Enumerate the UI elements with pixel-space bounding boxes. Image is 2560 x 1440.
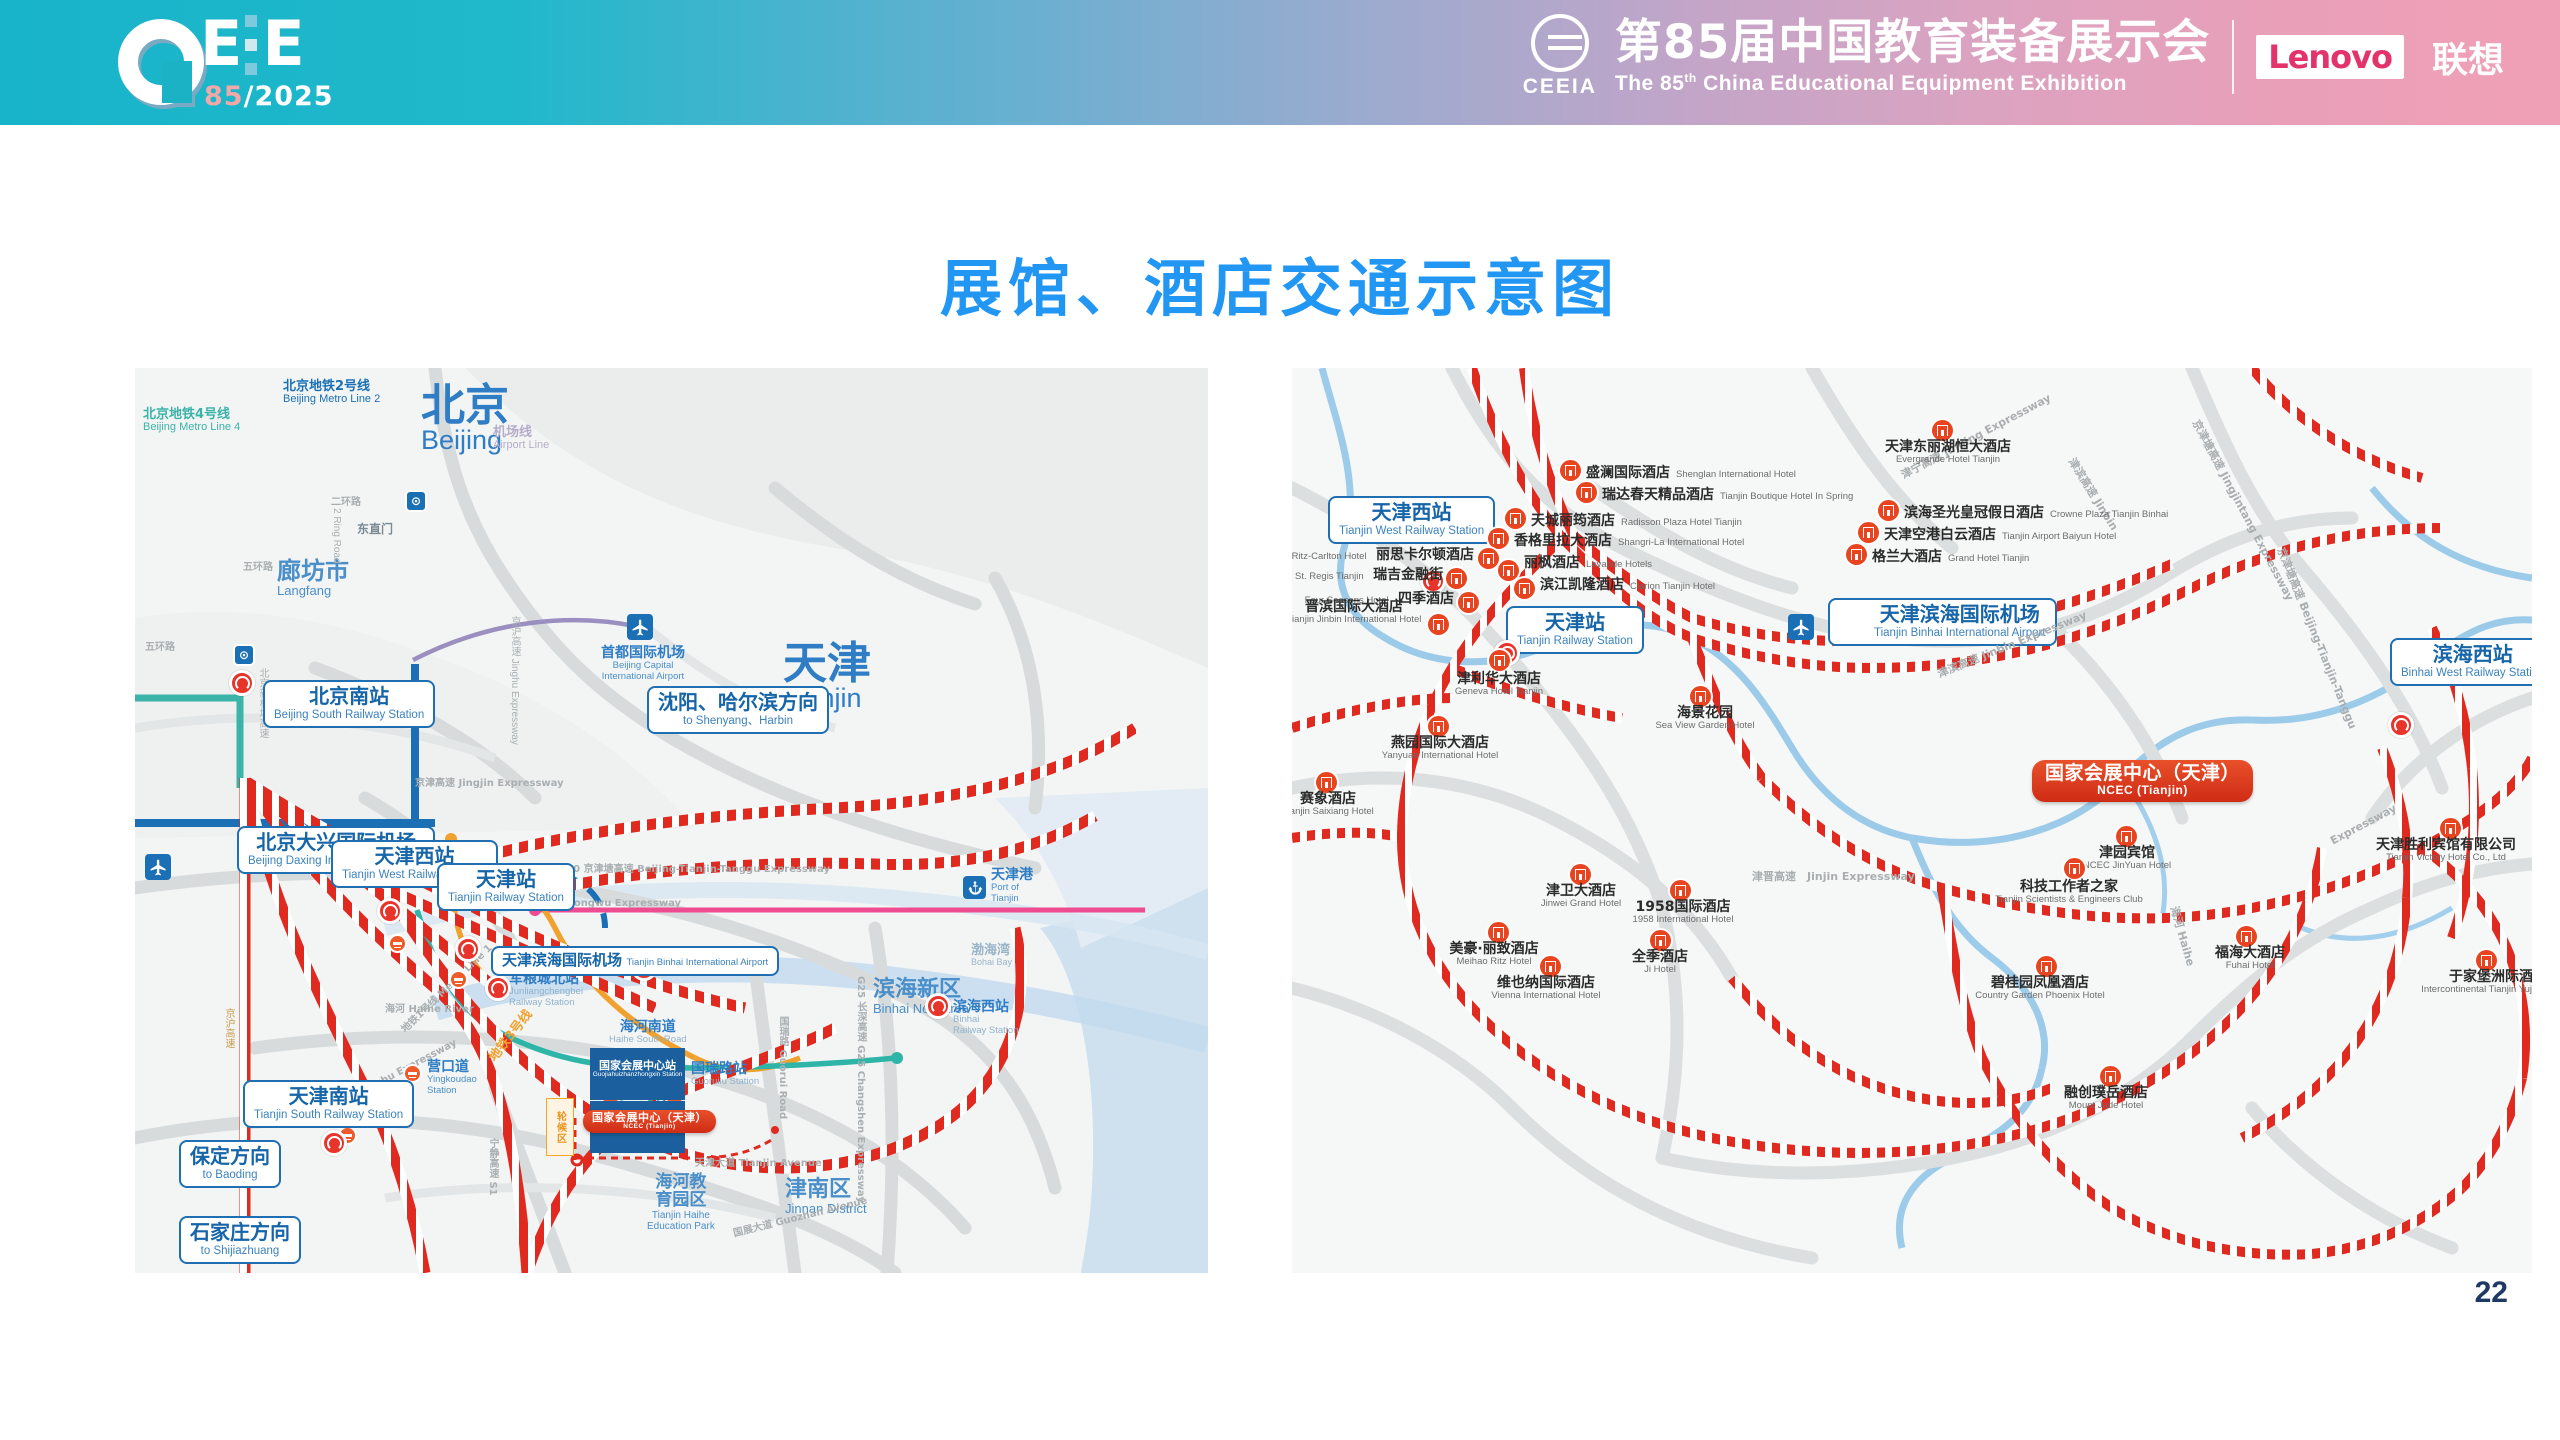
hotel-label-ji-hotel: 全季酒店 Ji Hotel (1596, 950, 1724, 975)
road-label-s40-beijing-tianjin-tanggu: S40 京津塘高速 Beijing-Tianjin-Tanggu Express… (559, 860, 830, 875)
header-titles: 第85届中国教育装备展示会 The 85th China Educational… (1615, 17, 2210, 96)
ceeia-logo: CEEIA (1523, 14, 1597, 99)
hotel-pin-geneva[interactable] (1489, 650, 1510, 671)
station-marker-junliangchengbei[interactable] (485, 975, 511, 1001)
metro-label-beijing-line-4: 北京地铁4号线Beijing Metro Line 4 (143, 408, 240, 433)
hotel-pin-shenglan[interactable] (1560, 460, 1581, 481)
hotel-pin-radisson[interactable] (1505, 508, 1526, 529)
hotel-pin-fuhai[interactable] (2236, 926, 2257, 947)
metro-label-beijing-line-2: 北京地铁2号线Beijing Metro Line 2 (283, 380, 380, 405)
hotel-pin-jinbin-intl[interactable] (1428, 614, 1449, 635)
region-label-langfang: 廊坊市 Langfang (277, 558, 349, 599)
station-marker-metro-interchange[interactable]: ⊙ (233, 644, 255, 666)
callout-tj-station-right[interactable]: 天津站 Tianjin Railway Station (1506, 606, 1644, 654)
hotel-pin-1958-intl[interactable] (1670, 880, 1691, 901)
hotel-label-radisson: 天城丽筠酒店Radisson Plaza Hotel Tianjin (1531, 512, 1742, 529)
map-tianjin-hotels[interactable]: 天津西站 Tianjin West Railway Station 天津西站 T… (1292, 368, 2532, 1273)
hotel-pin-saixiang[interactable] (1316, 772, 1337, 793)
station-marker-right-binhai-west[interactable] (2388, 712, 2414, 738)
hotel-pin-clarion[interactable] (1514, 578, 1535, 599)
callout-to-baoding[interactable]: 保定方向 to Baoding (179, 1140, 281, 1188)
station-marker-beijing-south[interactable] (229, 670, 255, 696)
callout-to-shenyang-harbin[interactable]: 沈阳、哈尔滨方向 to Shenyang、Harbin (647, 686, 829, 734)
place-label-junliangchengbei: 军粮城北站 JunliangchengbeiRailway Station (509, 972, 583, 1008)
road-label-guorui-road: 国瑞路 Guorui Road (775, 1016, 790, 1119)
hotel-pin-yujiapu-intercontinental[interactable] (2476, 950, 2497, 971)
place-label-binhai-west-station: 滨海西站 BinhaiRailway Station (953, 1000, 1018, 1036)
callout-beijing-south-station[interactable]: 北京南站 Beijing South Railway Station (263, 680, 435, 728)
road-label-ring-road-en: 2 Ring Road (331, 508, 342, 564)
hotel-pin-meihao-ritz[interactable] (1488, 922, 1509, 943)
hotel-label-airport-baiyun: 天津空港白云酒店Tianjin Airport Baiyun Hotel (1884, 526, 2116, 543)
map-beijing-tianjin-regional[interactable]: 北京 Beijing 天津 Tianjin 廊坊市 Langfang 滨海新区 … (135, 368, 1208, 1273)
header-right-group: CEEIA 第85届中国教育装备展示会 The 85th China Educa… (1523, 14, 2504, 99)
logo-letters: E E 85/2025 (200, 13, 334, 112)
hotel-label-country-garden-phoenix: 碧桂园凤凰酒店 Country Garden Phoenix Hotel (1942, 976, 2138, 1001)
callout-binhai-west-station-right[interactable]: 滨海西站 Binhai West Railway Station (2390, 638, 2532, 686)
hotel-pin-yanyuan[interactable] (1428, 716, 1449, 737)
hotel-pin-lavande[interactable] (1498, 560, 1519, 581)
logo-year-2025: /2025 (244, 81, 334, 112)
hotel-pin-ruida-spring[interactable] (1576, 482, 1597, 503)
lenovo-logo: Lenovo (2256, 35, 2404, 79)
logo-year: 85/2025 (204, 81, 334, 112)
header-divider (2232, 20, 2234, 94)
road-label-2-ring: 二环路 (331, 493, 361, 508)
airport-marker-beijing-daxing[interactable] (145, 854, 171, 880)
ceee-logo: E E 85/2025 (118, 12, 334, 112)
hotel-label-scientists-club: 科技工作者之家 Tianjin Scientists & Engineers C… (1958, 880, 2180, 905)
ceeia-ring-icon (1531, 14, 1589, 72)
metro-label-airport-line: 机场线Airport Line (493, 426, 549, 451)
road-label-5th-ring-2: 五环路 (145, 638, 175, 653)
hotel-label-crowne-plaza: 滨海圣光皇冠假日酒店Crowne Plaza Tianjin Binhai (1904, 504, 2168, 521)
road-label-5th-ring-1: 五环路 (243, 558, 273, 573)
hotel-label-clarion: 滨江凯隆酒店Clarion Tianjin Hotel (1540, 576, 1715, 593)
station-marker-tianjin-south[interactable] (321, 1130, 347, 1156)
hotel-label-grand-hotel-tianjin: 格兰大酒店Grand Hotel Tianjin (1872, 548, 2029, 565)
logo-year-85: 85 (204, 81, 244, 112)
airport-icon-binhai (1788, 614, 1814, 640)
hotel-label-yujiapu-intercontinental: 于家堡洲际酒店 Intercontinental Tianjin Yujiapu… (2378, 970, 2532, 995)
hotel-label-lavande: 丽枫酒店Lavande Hotels (1524, 554, 1652, 571)
place-label-haihe-south-road: 海河南道 Haihe South Road (609, 1020, 687, 1046)
lenovo-wordmark: Lenovo (2268, 38, 2392, 76)
hotel-label-jinbin-intl: 晋滨国际大酒店 Tianjin Jinbin International Hot… (1292, 600, 1424, 625)
road-label-jinjin-expressway: 津晋高速 Jinjin Expressway (1752, 868, 1915, 884)
place-label-port-of-tianjin: 天津港 Port ofTianjin (991, 868, 1033, 904)
hotel-pin-evergrande[interactable] (1932, 420, 1953, 441)
hotel-pin-victory[interactable] (2440, 818, 2461, 839)
hotel-label-shenglan: 盛澜国际酒店Shenglan International Hotel (1586, 464, 1796, 481)
logo-dot-column (245, 15, 257, 75)
road-label-jinghu-expressway: 京沪高速 Jinghu Expressway (507, 616, 522, 745)
hotel-label-yanyuan: 燕园国际大酒店 Yanyuan International Hotel (1352, 736, 1528, 761)
hotel-label-ritz-carlton: Ritz-Carlton Hotel 丽思卡尔顿酒店 (1292, 546, 1474, 563)
callout-tianjin-station[interactable]: 天津站 Tianjin Railway Station (437, 863, 575, 911)
place-label-dongzhimen: 东直门 (357, 520, 393, 537)
ncec-badge-right-map[interactable]: 国家会展中心（天津） NCEC (Tianjin) (2032, 760, 2253, 802)
page-number: 22 (2475, 1276, 2508, 1310)
road-label-tianjin-avenue: 天津大道 Tianjin Avenue (695, 1154, 822, 1169)
hotel-pin-ritz-carlton[interactable] (1478, 548, 1499, 569)
station-marker-tianjin-main[interactable] (455, 936, 481, 962)
hotel-label-saixiang: 赛象酒店 Tianjin Saixiang Hotel (1292, 792, 1392, 817)
place-label-beijing-capital-airport: 首都国际机场 Beijing CapitalInternational Airp… (601, 646, 685, 682)
hotel-label-1958-intl: 1958国际酒店 1958 International Hotel (1600, 900, 1766, 925)
station-marker-binhai-west[interactable] (925, 993, 951, 1019)
hotel-pin-sea-view-garden[interactable] (1690, 686, 1711, 707)
waiting-area-box: 轮候区 (546, 1098, 574, 1156)
hotel-pin-mount-jade[interactable] (2100, 1066, 2121, 1087)
station-marker-dongzhimen[interactable]: ⊙ (405, 490, 427, 512)
station-marker-tianjin-west[interactable] (377, 898, 403, 924)
exhibition-title-cn: 第85届中国教育装备展示会 (1615, 17, 2210, 69)
port-marker-tianjin[interactable] (963, 876, 986, 899)
ceeia-abbrev: CEEIA (1523, 75, 1597, 99)
road-label-vertical-ramp: 京沪高速 (221, 1008, 236, 1048)
hotel-pin-airport-baiyun[interactable] (1858, 522, 1879, 543)
hotel-label-sea-view-garden: 海景花园 Sea View Garden Hotel (1630, 706, 1780, 731)
page-title: 展馆、酒店交通示意图 (0, 238, 2560, 328)
lenovo-cn-name: 联想 (2432, 31, 2504, 83)
hotel-label-geneva: 津利华大酒店 Geneva Hotel Tianjin (1420, 672, 1578, 697)
page-header: E E 85/2025 CEEIA 第85届中国教育装备展示会 The 85th… (0, 0, 2560, 125)
road-label-ningjing-road: 宁静高速 S1 (485, 1138, 500, 1196)
hotel-label-mount-jade: 融创璞岳酒店 Mount Jade Hotel (2016, 1086, 2196, 1111)
hotel-pin-jinwei-grand[interactable] (1570, 864, 1591, 885)
hotel-label-shangrila: 香格里拉大酒店Shangri-La International Hotel (1514, 532, 1744, 549)
logo-c-mark (118, 19, 204, 105)
road-label-haihe: 海河 Haihe River (385, 1000, 474, 1015)
hotel-pin-crowne-plaza[interactable] (1878, 500, 1899, 521)
road-label-g25-changshen: G25 长深高速 G25 Changshen Expressway (853, 976, 868, 1203)
hotel-label-evergrande: 天津东丽湖恒大酒店 Evergrande Hotel Tianjin (1858, 440, 2038, 465)
ncec-badge-left-map[interactable]: 国家会展中心（天津） NCEC (Tianjin) (583, 1110, 716, 1133)
hotel-pin-country-garden-phoenix[interactable] (2036, 956, 2057, 977)
exhibition-title-en: The 85th China Educational Equipment Exh… (1615, 71, 2210, 96)
region-label-bohai-bay: 渤海湾 Bohai Bay (971, 944, 1012, 968)
airport-marker-beijing-capital[interactable] (627, 614, 653, 640)
hotel-label-vienna-intl: 维也纳国际酒店 Vienna International Hotel (1458, 976, 1634, 1001)
hotel-pin-ji-hotel[interactable] (1650, 930, 1671, 951)
callout-tianjin-south-station[interactable]: 天津南站 Tianjin South Railway Station (243, 1080, 414, 1128)
hotel-pin-ncec-jinyuan[interactable] (2116, 826, 2137, 847)
hotel-label-fuhai: 福海大酒店 Fuhai Hotel (2190, 946, 2310, 971)
hotel-pin-shangrila[interactable] (1488, 528, 1509, 549)
callout-tianjin-binhai-airport-left[interactable]: 天津滨海国际机场 Tianjin Binhai International Ai… (491, 946, 779, 976)
ncec-station-block[interactable]: 国家会展中心站 Guojiahuizhanzhongxin Station (590, 1048, 685, 1100)
ncec-station-label: 国家会展中心站 Guojiahuizhanzhongxin Station (590, 1060, 685, 1079)
hotel-pin-vienna-intl[interactable] (1540, 956, 1561, 977)
region-label-haihe-education-park: 海河教育园区 Tianjin HaiheEducation Park (647, 1174, 715, 1232)
callout-tj-west-station-right[interactable]: 天津西站 Tianjin West Railway Station (1328, 496, 1495, 544)
hotel-label-victory: 天津胜利宾馆有限公司 Tianjin Victory Hotel Co., Lt… (2336, 838, 2532, 863)
hotel-pin-grand-hotel-tianjin[interactable] (1846, 544, 1867, 565)
road-label-jingjin-expressway: 京津高速 Jingjin Expressway (415, 774, 564, 789)
metro-marker-interchange-a[interactable] (449, 970, 468, 989)
logo-letter-e1: E (200, 13, 240, 75)
place-label-guoruilu-station: 国瑞路站 Guoruilu Station (691, 1062, 759, 1088)
hotel-label-ruida-spring: 瑞达春天精品酒店Tianjin Boutique Hotel In Spring (1602, 486, 1853, 503)
hotel-pin-four-seasons[interactable] (1458, 592, 1479, 613)
hotel-label-st-regis: The St. Regis Tianjin 瑞吉金融街 (1292, 566, 1442, 583)
logo-letter-e2: E (262, 13, 302, 75)
callout-to-shijiazhuang[interactable]: 石家庄方向 to Shijiazhuang (179, 1216, 301, 1264)
metro-marker-tianjin-west[interactable] (388, 934, 407, 953)
hotel-pin-st-regis[interactable] (1446, 568, 1467, 589)
place-label-yingkoudao: 营口道 YingkoudaoStation (427, 1060, 477, 1096)
hotel-pin-scientists-club[interactable] (2064, 858, 2085, 879)
